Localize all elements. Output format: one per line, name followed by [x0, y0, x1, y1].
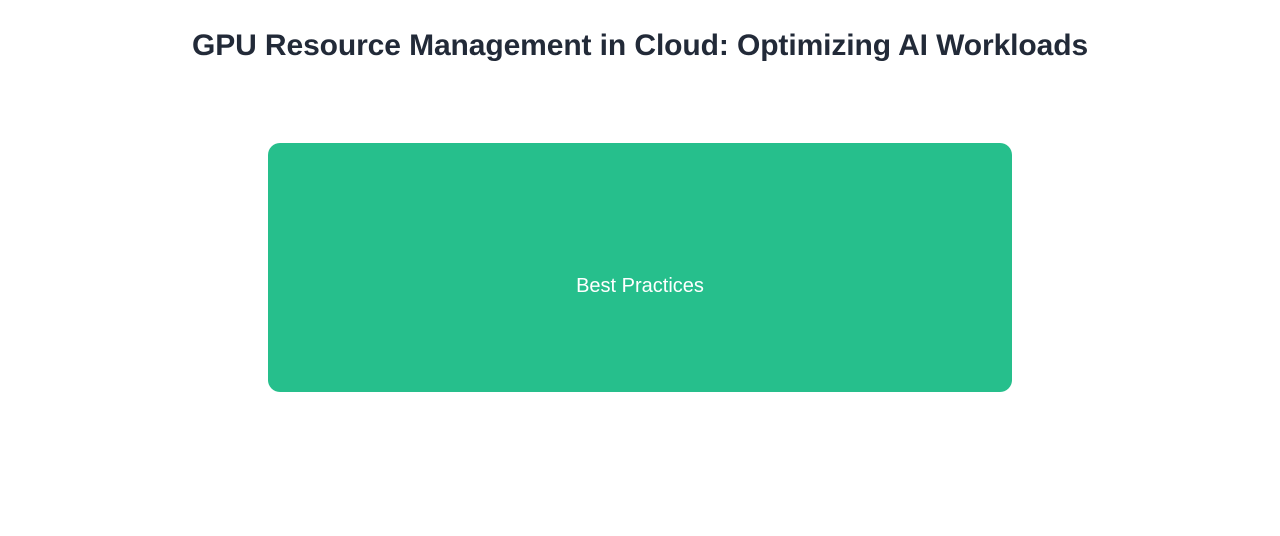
diagram-node-best-practices[interactable]: Best Practices [268, 143, 1012, 392]
diagram-node-layer: Best Practices [0, 0, 1280, 536]
diagram-node-label: Best Practices [576, 274, 704, 298]
slide-canvas: GPU Resource Management in Cloud: Optimi… [0, 0, 1280, 536]
